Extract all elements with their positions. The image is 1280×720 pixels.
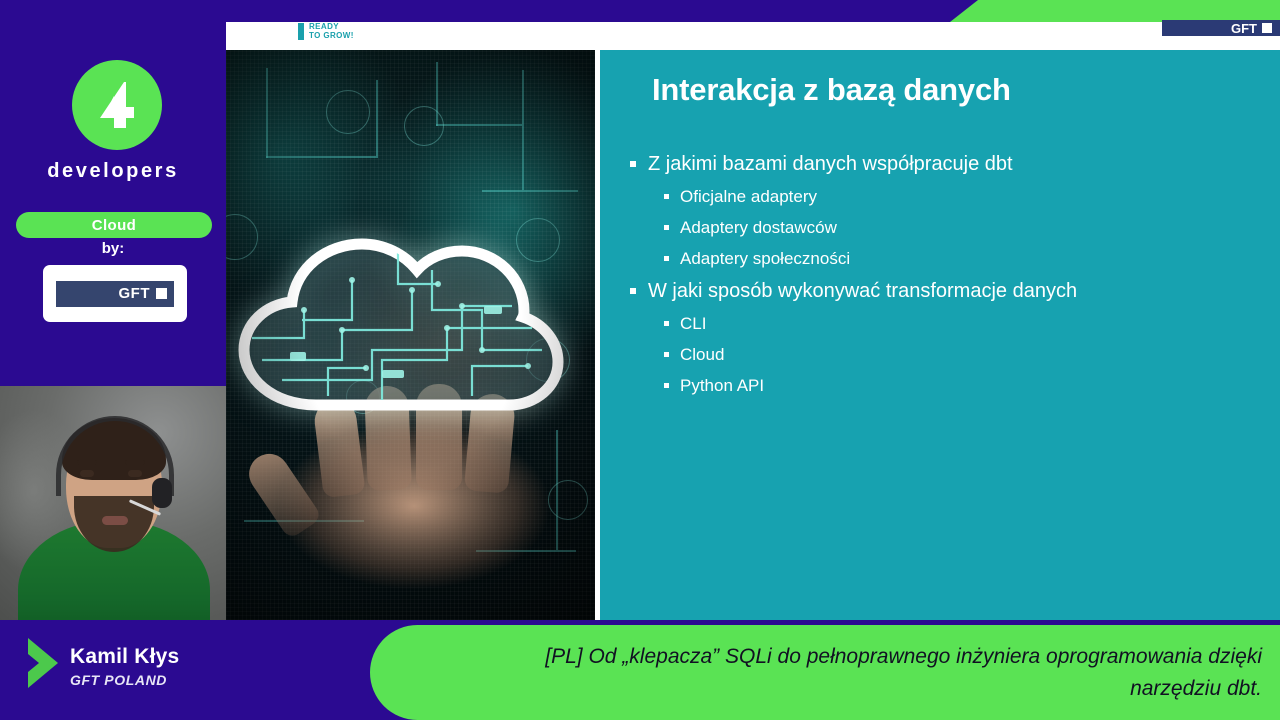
- bullet-square-icon: [664, 321, 669, 326]
- webcam-brow-right: [125, 460, 145, 465]
- bullet-level2: Python API: [664, 373, 1270, 398]
- bullet-level2: Oficjalne adaptery: [664, 184, 1270, 209]
- bullet-text: Z jakimi bazami danych współpracuje dbt: [648, 150, 1013, 178]
- sponsor-card: GFT: [43, 265, 187, 322]
- track-badge-cloud: Cloud: [16, 212, 212, 238]
- webcam-brow-left: [77, 460, 97, 465]
- ready-to-grow-bar-icon: [298, 23, 304, 40]
- gft-square-icon: [1262, 23, 1272, 33]
- bullet-level1: Z jakimi bazami danych współpracuje dbt: [630, 150, 1270, 178]
- webcam-eye-left: [80, 470, 94, 477]
- four-developers-logo-icon: [72, 60, 162, 150]
- bullet-text: W jaki sposób wykonywać transformacje da…: [648, 277, 1077, 305]
- speaker-name: Kamil Kłys: [70, 645, 179, 669]
- bullet-text: Python API: [680, 373, 764, 398]
- presentation-slide: READY TO GROW! GFT: [226, 0, 1280, 620]
- bullet-square-icon: [664, 352, 669, 357]
- left-sidebar: developers Cloud by: GFT: [0, 0, 226, 720]
- slide-content-panel: Interakcja z bazą danych Z jakimi bazami…: [600, 50, 1280, 620]
- ready-to-grow-mark: READY TO GROW!: [298, 22, 354, 40]
- slide-corner-gft-logo: GFT: [1162, 20, 1280, 36]
- gft-logo-text: GFT: [119, 285, 151, 302]
- webcam-eye-right: [128, 470, 142, 477]
- bullet-square-icon: [664, 383, 669, 388]
- slide-top-green-strip: [950, 0, 1280, 22]
- bullet-level2: Adaptery dostawców: [664, 215, 1270, 240]
- bullet-text: Cloud: [680, 342, 724, 367]
- headset-earcup-icon: [152, 478, 172, 508]
- stream-layout: developers Cloud by: GFT: [0, 0, 1280, 720]
- bullet-level2: Cloud: [664, 342, 1270, 367]
- bullet-text: Adaptery dostawców: [680, 215, 837, 240]
- bullet-level2: CLI: [664, 311, 1270, 336]
- bullet-square-icon: [664, 225, 669, 230]
- bullet-square-icon: [664, 194, 669, 199]
- bullet-square-icon: [630, 161, 636, 167]
- gft-square-icon: [156, 288, 167, 299]
- bullet-square-icon: [664, 256, 669, 261]
- image-vignette: [226, 50, 595, 620]
- slide-image-circuit-cloud: [226, 50, 595, 620]
- sponsored-by-label: by:: [0, 240, 226, 257]
- bullet-text: Oficjalne adaptery: [680, 184, 817, 209]
- speaker-organization: GFT POLAND: [70, 672, 167, 688]
- ready-to-grow-text: READY TO GROW!: [309, 22, 354, 40]
- slide-bullet-list: Z jakimi bazami danych współpracuje dbt …: [630, 150, 1270, 404]
- gft-logo: GFT: [56, 281, 174, 307]
- bullet-level2: Adaptery społeczności: [664, 246, 1270, 271]
- talk-title-text: [PL] Od „klepacza” SQLi do pełnoprawnego…: [460, 641, 1262, 705]
- speaker-video-feed: [0, 386, 226, 620]
- slide-title: Interakcja z bazą danych: [652, 72, 1011, 108]
- webcam-mouth: [102, 516, 128, 525]
- talk-title-banner: [PL] Od „klepacza” SQLi do pełnoprawnego…: [370, 625, 1280, 720]
- bullet-square-icon: [630, 288, 636, 294]
- brand-wordmark: developers: [0, 160, 226, 183]
- chevron-right-icon: [22, 636, 64, 690]
- slide-corner-gft-text: GFT: [1231, 21, 1257, 36]
- bullet-text: Adaptery społeczności: [680, 246, 850, 271]
- event-branding-block: developers Cloud by: GFT: [0, 0, 226, 386]
- bullet-text: CLI: [680, 311, 706, 336]
- bullet-level1: W jaki sposób wykonywać transformacje da…: [630, 277, 1270, 305]
